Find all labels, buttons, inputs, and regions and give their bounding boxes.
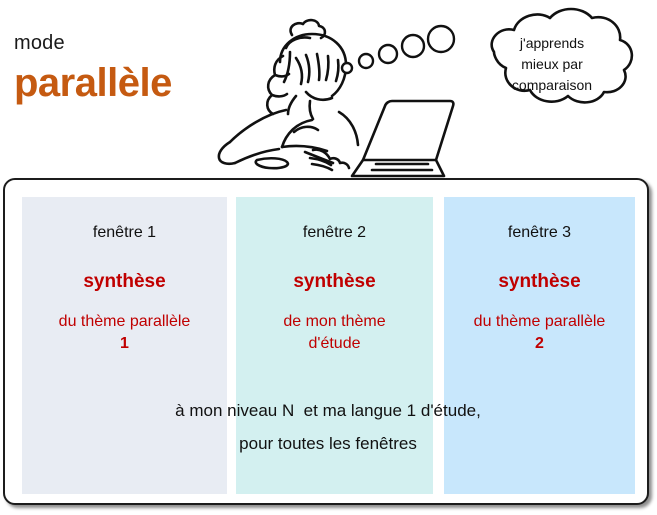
- window-label-2: fenêtre 2: [236, 223, 433, 243]
- thought-line-3: comparaison: [472, 75, 632, 96]
- window-label-3: fenêtre 3: [444, 223, 635, 243]
- subtitle-number-2: d'étude: [240, 333, 429, 355]
- subtitle-text-2: de mon thème: [240, 311, 429, 333]
- thought-bubble-text: j'apprends mieux par comparaison: [472, 33, 632, 96]
- thought-dots-icon: [330, 18, 460, 80]
- subtitle-number-3: 2: [448, 333, 631, 355]
- parallel-mode-panel: fenêtre 1 synthèse du thème parallèle 1 …: [3, 178, 649, 505]
- window-column-3[interactable]: fenêtre 3 synthèse du thème parallèle 2: [444, 197, 635, 494]
- window-column-2[interactable]: fenêtre 2 synthèse de mon thème d'étude: [236, 197, 433, 494]
- synthese-subtitle-1: du thème parallèle 1: [22, 311, 227, 355]
- windows-columns: fenêtre 1 synthèse du thème parallèle 1 …: [5, 180, 647, 503]
- synthese-subtitle-2: de mon thème d'étude: [236, 311, 433, 355]
- thought-line-1: j'apprends: [472, 33, 632, 54]
- synthese-heading-1: synthèse: [22, 270, 227, 293]
- subtitle-text-1: du thème parallèle: [26, 311, 223, 333]
- subtitle-text-3: du thème parallèle: [448, 311, 631, 333]
- window-column-1[interactable]: fenêtre 1 synthèse du thème parallèle 1: [22, 197, 227, 494]
- window-label-1: fenêtre 1: [22, 223, 227, 243]
- synthese-heading-3: synthèse: [444, 270, 635, 293]
- subtitle-number-1: 1: [26, 333, 223, 355]
- synthese-heading-2: synthèse: [236, 270, 433, 293]
- thought-line-2: mieux par: [472, 54, 632, 75]
- synthese-subtitle-3: du thème parallèle 2: [444, 311, 635, 355]
- header-area: mode parallèle: [0, 0, 657, 178]
